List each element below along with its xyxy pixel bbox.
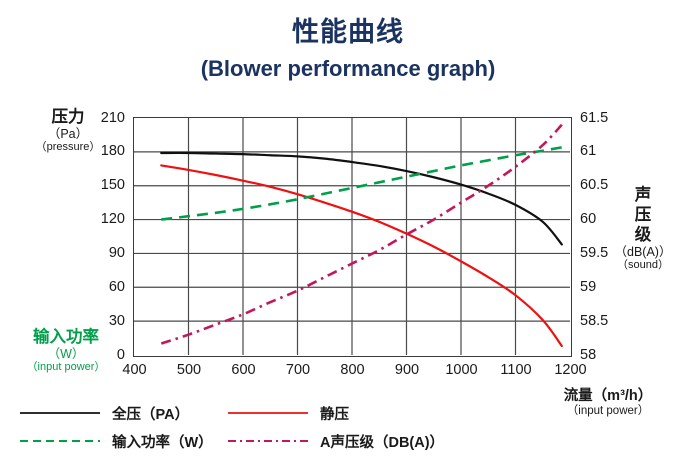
left-axis-title-unit: （Pa） <box>22 127 114 141</box>
series-curve-1 <box>161 165 562 346</box>
right-axis-title-en: （sound） <box>600 259 686 272</box>
plot-canvas <box>134 118 570 355</box>
left-axis-secondary-cn: 输入功率 <box>10 328 122 347</box>
page-title-cn: 性能曲线 <box>0 16 696 48</box>
left-tick-150: 150 <box>91 177 125 193</box>
legend-swatch-total-pressure <box>18 407 102 419</box>
right-tick-58.5: 58.5 <box>580 313 620 329</box>
right-axis-title-char-2: 级 <box>600 225 686 245</box>
left-axis-secondary-en: （input power） <box>10 361 122 374</box>
right-tick-59.5: 59.5 <box>580 245 620 261</box>
legend-label-total-pressure: 全压（PA） <box>112 403 189 424</box>
right-tick-61: 61 <box>580 143 620 159</box>
legend-item-input-power[interactable]: 输入功率（W） <box>18 430 213 452</box>
plot-area <box>133 117 572 357</box>
chart-legend: 全压（PA） 静压 输入功率（W） A声压级（DB(A)） <box>0 398 696 458</box>
legend-label-input-power: 输入功率（W） <box>112 431 213 452</box>
left-tick-60: 60 <box>91 279 125 295</box>
right-tick-60.5: 60.5 <box>580 177 620 193</box>
right-tick-61.5: 61.5 <box>580 110 620 126</box>
right-tick-58: 58 <box>580 347 620 363</box>
series-curve-2 <box>161 147 562 219</box>
legend-item-total-pressure[interactable]: 全压（PA） <box>18 402 189 424</box>
page-title-en: (Blower performance graph) <box>0 56 696 82</box>
blower-performance-chart: 性能曲线 (Blower performance graph) 压力 （Pa） … <box>0 0 696 460</box>
left-tick-180: 180 <box>91 143 125 159</box>
legend-swatch-static-pressure <box>226 407 310 419</box>
legend-item-static-pressure[interactable]: 静压 <box>226 402 349 424</box>
series-curve-0 <box>161 153 562 244</box>
bottom-tick-500: 500 <box>166 362 212 378</box>
left-tick-0: 0 <box>91 347 125 363</box>
bottom-tick-1000: 1000 <box>439 362 485 378</box>
bottom-tick-400: 400 <box>112 362 158 378</box>
bottom-tick-1200: 1200 <box>548 362 594 378</box>
right-tick-60: 60 <box>580 211 620 227</box>
bottom-tick-900: 900 <box>384 362 430 378</box>
bottom-tick-800: 800 <box>330 362 376 378</box>
left-tick-120: 120 <box>91 211 125 227</box>
legend-item-sound-level[interactable]: A声压级（DB(A)） <box>226 430 444 452</box>
left-tick-30: 30 <box>91 313 125 329</box>
legend-label-sound-level: A声压级（DB(A)） <box>320 431 444 452</box>
legend-swatch-sound-level <box>226 435 310 447</box>
left-tick-210: 210 <box>91 110 125 126</box>
legend-label-static-pressure: 静压 <box>320 403 349 424</box>
right-tick-59: 59 <box>580 279 620 295</box>
legend-swatch-input-power <box>18 435 102 447</box>
left-tick-90: 90 <box>91 245 125 261</box>
bottom-tick-600: 600 <box>221 362 267 378</box>
bottom-tick-1100: 1100 <box>493 362 539 378</box>
bottom-tick-700: 700 <box>275 362 321 378</box>
